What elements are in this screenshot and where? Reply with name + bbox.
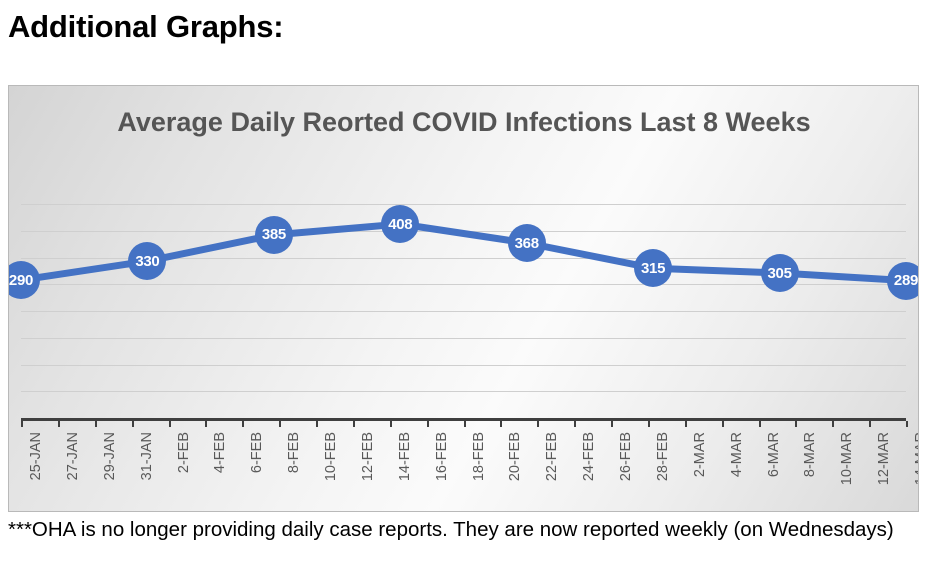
axis-tick-label: 2-MAR: [692, 432, 708, 477]
axis-tick-label: 28-FEB: [655, 432, 671, 481]
axis-tick: [169, 421, 171, 427]
axis-tick-label: 12-FEB: [360, 432, 376, 481]
axis-tick: [648, 421, 650, 427]
axis-tick-label: 31-JAN: [139, 432, 155, 480]
axis-tick: [869, 421, 871, 427]
axis-tick-label: 4-MAR: [729, 432, 745, 477]
axis-tick: [242, 421, 244, 427]
plot-area: 290330385408368315305289: [21, 204, 906, 418]
axis-tick-label: 29-JAN: [102, 432, 118, 480]
axis-tick: [537, 421, 539, 427]
axis-tick: [500, 421, 502, 427]
axis-tick-label: 10-FEB: [323, 432, 339, 481]
axis-tick-label: 24-FEB: [581, 432, 597, 481]
axis-tick-label: 16-FEB: [434, 432, 450, 481]
axis-tick-label: 27-JAN: [65, 432, 81, 480]
axis-tick: [722, 421, 724, 427]
page-title: Additional Graphs:: [8, 9, 283, 45]
axis-tick: [390, 421, 392, 427]
axis-tick-label: 4-FEB: [212, 432, 228, 473]
data-point-marker: 385: [255, 216, 293, 254]
axis-tick: [316, 421, 318, 427]
axis-tick: [611, 421, 613, 427]
chart-container: Average Daily Reorted COVID Infections L…: [8, 85, 919, 512]
axis-tick: [795, 421, 797, 427]
axis-tick-label: 6-FEB: [249, 432, 265, 473]
axis-tick: [685, 421, 687, 427]
axis-tick: [464, 421, 466, 427]
axis-tick-label: 2-FEB: [176, 432, 192, 473]
axis-tick-label: 6-MAR: [766, 432, 782, 477]
series-line: [21, 204, 906, 418]
data-point-marker: 368: [508, 224, 546, 262]
axis-tick-label: 14-MAR: [913, 432, 919, 485]
axis-tick: [574, 421, 576, 427]
axis-tick: [21, 421, 23, 427]
axis-tick: [205, 421, 207, 427]
data-point-marker: 305: [761, 254, 799, 292]
axis-tick-label: 22-FEB: [544, 432, 560, 481]
axis-tick-label: 18-FEB: [471, 432, 487, 481]
axis-tick-label: 25-JAN: [28, 432, 44, 480]
axis-tick: [427, 421, 429, 427]
axis-tick-label: 20-FEB: [507, 432, 523, 481]
axis-tick-label: 26-FEB: [618, 432, 634, 481]
axis-tick: [353, 421, 355, 427]
axis-tick-label: 10-MAR: [839, 432, 855, 485]
axis-tick: [906, 421, 908, 427]
axis-tick: [58, 421, 60, 427]
axis-tick-label: 8-MAR: [802, 432, 818, 477]
axis-tick: [279, 421, 281, 427]
footnote-text: ***OHA is no longer providing daily case…: [8, 516, 916, 543]
data-point-marker: 289: [887, 262, 919, 300]
chart-title: Average Daily Reorted COVID Infections L…: [69, 104, 859, 140]
axis-tick-label: 14-FEB: [397, 432, 413, 481]
axis-tick: [132, 421, 134, 427]
axis-tick: [95, 421, 97, 427]
axis-tick-label: 8-FEB: [286, 432, 302, 473]
axis-tick: [759, 421, 761, 427]
axis-tick-label: 12-MAR: [876, 432, 892, 485]
axis-tick: [832, 421, 834, 427]
